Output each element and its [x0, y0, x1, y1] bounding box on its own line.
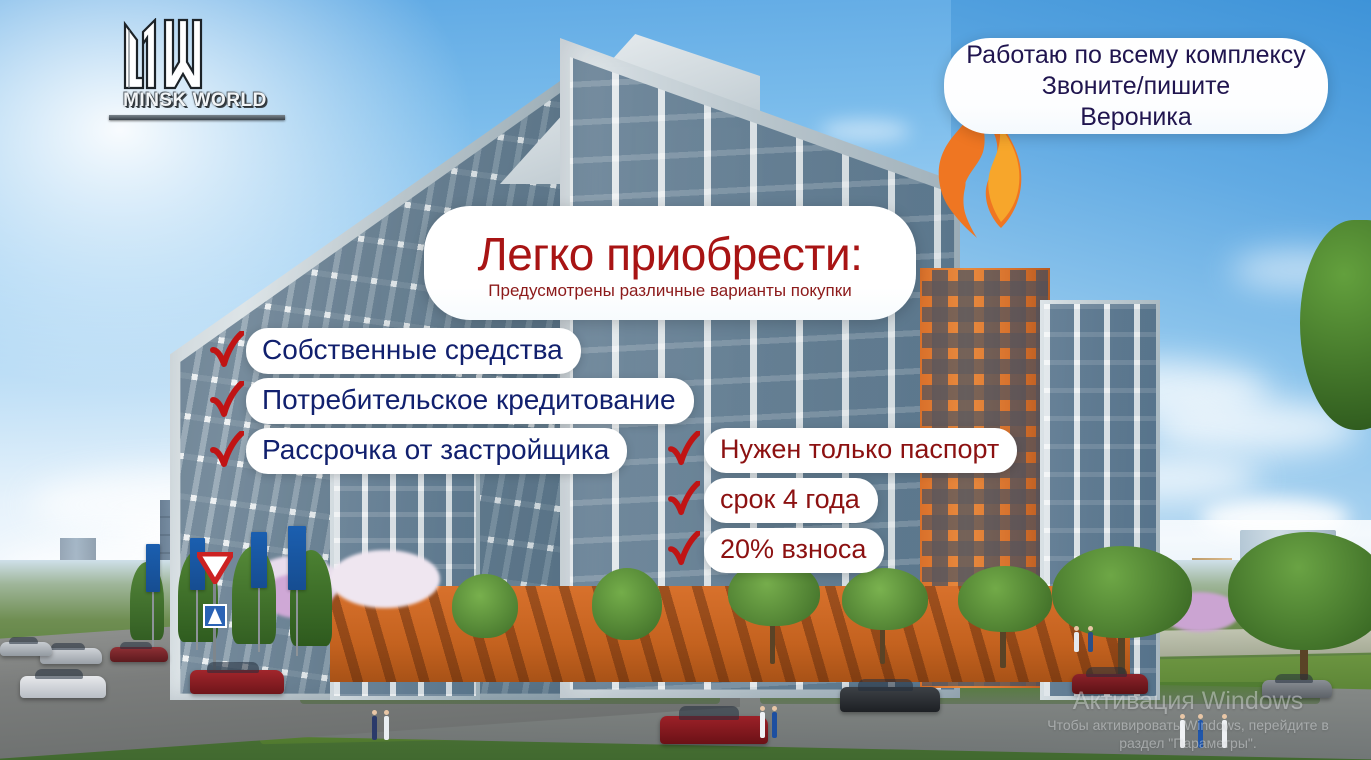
tree	[592, 568, 662, 640]
contact-line-1: Работаю по всему комплексу	[966, 40, 1305, 71]
installment-term-label: 20% взноса	[704, 528, 884, 573]
installment-term-row[interactable]: срок 4 года	[668, 478, 878, 523]
contact-callout-bubble[interactable]: Работаю по всему комплексу Звоните/пишит…	[944, 38, 1328, 134]
contact-line-2: Звоните/пишите	[1042, 71, 1230, 102]
check-icon	[668, 481, 702, 521]
car	[20, 676, 106, 698]
check-icon	[210, 381, 244, 421]
car	[660, 716, 768, 744]
check-icon	[210, 431, 244, 471]
logo-underline	[109, 115, 285, 120]
street-banner	[146, 544, 160, 592]
pedestrian	[1088, 632, 1093, 652]
tree	[1228, 532, 1371, 650]
car	[110, 647, 168, 662]
payment-option-row[interactable]: Рассрочка от застройщика	[210, 428, 627, 474]
yield-sign-icon	[197, 552, 233, 584]
page-title: Легко приобрести:	[478, 229, 863, 279]
car	[840, 687, 940, 712]
car	[190, 670, 284, 694]
pedestrian	[372, 716, 377, 740]
payment-option-row[interactable]: Потребительское кредитование	[210, 378, 694, 424]
advertisement-banner: MINSK WORLD Работаю по всему комплексу З…	[0, 0, 1371, 760]
installment-term-row[interactable]: 20% взноса	[668, 528, 884, 573]
payment-option-row[interactable]: Собственные средства	[210, 328, 581, 374]
installment-term-label: Нужен только паспорт	[704, 428, 1017, 473]
page-subtitle: Предусмотрены различные варианты покупки	[488, 280, 851, 302]
logo-wordmark: MINSK WORLD	[95, 90, 295, 112]
contact-line-3: Вероника	[1080, 102, 1192, 133]
payment-option-label: Потребительское кредитование	[246, 378, 694, 424]
tree	[958, 566, 1052, 632]
headline-card: Легко приобрести: Предусмотрены различны…	[424, 206, 916, 320]
pedestrian	[1198, 720, 1203, 748]
tree	[1052, 546, 1192, 638]
pedestrian-crossing-sign-icon	[203, 604, 227, 628]
blossom-tree	[330, 550, 440, 608]
car	[1262, 680, 1332, 698]
installment-term-label: срок 4 года	[704, 478, 878, 523]
payment-option-label: Собственные средства	[246, 328, 581, 374]
pedestrian	[1074, 632, 1079, 652]
pedestrian	[1222, 720, 1227, 748]
street-banner	[251, 532, 267, 588]
payment-option-label: Рассрочка от застройщика	[246, 428, 627, 474]
street-banner	[288, 526, 306, 590]
check-icon	[668, 431, 702, 471]
pedestrian	[384, 716, 389, 740]
pedestrian	[772, 712, 777, 738]
installment-term-row[interactable]: Нужен только паспорт	[668, 428, 1017, 473]
check-icon	[210, 331, 244, 371]
tree	[842, 568, 928, 630]
check-icon	[668, 531, 702, 571]
pedestrian	[760, 712, 765, 738]
car	[1072, 674, 1148, 694]
car	[0, 642, 52, 656]
tree	[452, 574, 518, 638]
mw-monogram-icon	[117, 18, 217, 90]
pedestrian	[1180, 720, 1185, 748]
minsk-world-logo: MINSK WORLD	[95, 18, 295, 123]
